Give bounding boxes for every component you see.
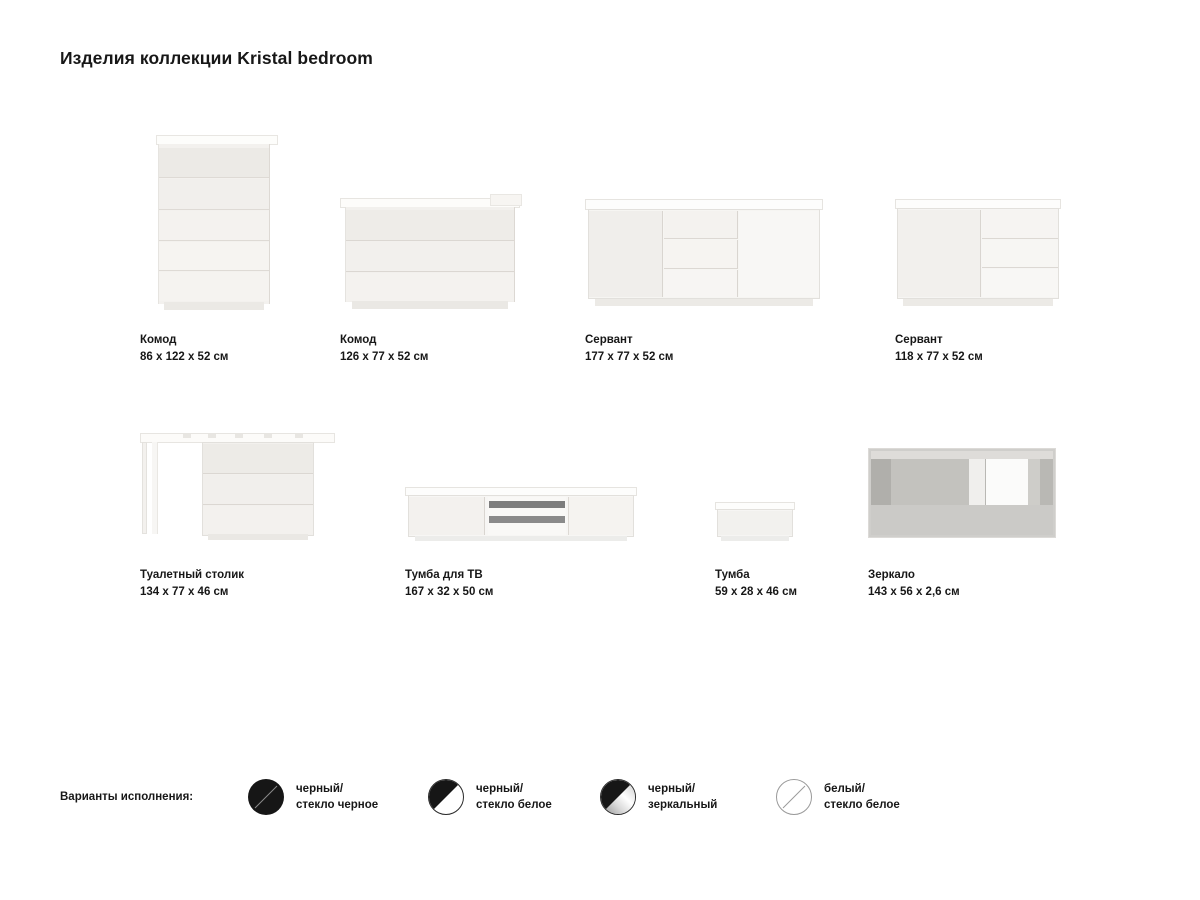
product-dimensions: 177 x 77 x 52 см [585,349,673,366]
drawer-front [346,242,514,272]
product-card-servant-118[interactable]: Сервант 118 x 77 x 52 см [895,190,1095,375]
drawer-front [982,240,1058,268]
chest-plinth [164,302,264,310]
product-card-zerkalo[interactable]: Зеркало 143 x 56 x 2,6 см [868,425,1068,610]
mirror-reflection [871,451,1053,535]
product-label-zerkalo: Зеркало 143 x 56 x 2,6 см [868,567,960,600]
reflection-ceiling [871,451,1053,459]
product-name: Комод [140,332,228,349]
product-image-komod-126 [340,190,525,315]
product-image-zerkalo [868,425,1063,545]
reflection-floor [871,505,1053,535]
legend-text-black-mirror: черный/ зеркальный [648,781,717,814]
product-label-tualetny-stolik: Туалетный столик 134 x 77 x 46 см [140,567,244,600]
product-dimensions: 143 x 56 x 2,6 см [868,584,960,601]
legend-line-2: стекло белое [476,797,552,814]
nightstand-plinth [721,536,789,541]
drawer-front [982,269,1058,297]
product-label-tumba-dlya-tv: Тумба для ТВ 167 x 32 x 50 см [405,567,493,600]
product-label-tumba: Тумба 59 x 28 x 46 см [715,567,797,600]
sideboard-door-right [739,211,819,297]
tv-stand-plinth [415,536,627,541]
drawer-front [203,506,313,534]
shelf-slot [489,516,565,523]
product-dimensions: 59 x 28 x 46 см [715,584,797,601]
finish-options-legend: Варианты исполнения: черный/ стекло черн… [60,779,1140,815]
product-label-servant-177: Сервант 177 x 77 x 52 см [585,332,673,365]
swatch-circle-half-black-mirror [600,779,636,815]
product-name: Сервант [895,332,983,349]
product-image-tualetny-stolik [140,425,340,545]
drawer-front [664,270,738,297]
legend-line-1: белый/ [824,781,900,798]
chest-plinth [352,301,508,309]
legend-item-black-mirror[interactable]: черный/ зеркальный [600,779,717,815]
product-dimensions: 134 x 77 x 46 см [140,584,244,601]
product-image-servant-118 [895,190,1065,315]
product-dimensions: 126 x 77 x 52 см [340,349,428,366]
product-card-komod-126[interactable]: Комод 126 x 77 x 52 см [340,190,540,375]
legend-text-black-black-glass: черный/ стекло черное [296,781,378,814]
product-name: Зеркало [868,567,960,584]
table-top-accent [264,434,272,438]
product-name: Тумба [715,567,797,584]
product-card-servant-177[interactable]: Сервант 177 x 77 x 52 см [585,190,835,375]
legend-item-white-white-glass[interactable]: белый/ стекло белое [776,779,900,815]
product-card-tumba-dlya-tv[interactable]: Тумба для ТВ 167 x 32 x 50 см [405,425,655,610]
table-leg-left-inner [152,442,158,534]
chest-top-overhang [490,194,522,206]
product-label-servant-118: Сервант 118 x 77 x 52 см [895,332,983,365]
sideboard-plinth [903,299,1053,306]
drawer-front [664,211,738,239]
product-card-tualetny-stolik[interactable]: Туалетный столик 134 x 77 x 46 см [140,425,350,610]
swatch-circle-white-outline [776,779,812,815]
product-image-tumba-dlya-tv [405,425,640,545]
product-name: Тумба для ТВ [405,567,493,584]
product-name: Туалетный столик [140,567,244,584]
swatch-circle-black-solid [248,779,284,815]
table-top-accent [208,434,216,438]
product-image-servant-177 [585,190,825,315]
drawer-front [982,210,1058,239]
product-label-komod-126: Комод 126 x 77 x 52 см [340,332,428,365]
product-dimensions: 118 x 77 x 52 см [895,349,983,366]
drawer-front [159,242,269,271]
reflection-wall-back [891,459,969,505]
drawer-front [159,211,269,241]
product-name: Комод [340,332,428,349]
drawer-front [203,475,313,505]
drawer-front [346,210,514,241]
table-top-accent [183,434,191,438]
drawer-front [159,272,269,301]
drawer-front [159,148,269,178]
table-top-accent [295,434,303,438]
sideboard-door-left [589,211,663,297]
product-dimensions: 86 x 122 x 52 см [140,349,228,366]
legend-item-black-black-glass[interactable]: черный/ стекло черное [248,779,378,815]
sideboard-door-left [898,210,981,297]
legend-line-2: зеркальный [648,797,717,814]
drawer-front [409,497,485,535]
drawer-front [664,240,738,269]
legend-item-black-white-glass[interactable]: черный/ стекло белое [428,779,552,815]
legend-line-2: стекло черное [296,797,378,814]
swatch-circle-half-black-white [428,779,464,815]
vanity-plinth [208,534,308,540]
product-label-komod-86: Комод 86 x 122 x 52 см [140,332,228,365]
legend-line-1: черный/ [296,781,378,798]
legend-line-1: черный/ [648,781,717,798]
legend-line-1: черный/ [476,781,552,798]
drawer-front [718,511,792,535]
product-card-komod-86[interactable]: Комод 86 x 122 x 52 см [140,135,330,375]
product-image-tumba [715,425,805,545]
product-dimensions: 167 x 32 x 50 см [405,584,493,601]
legend-text-black-white-glass: черный/ стекло белое [476,781,552,814]
page-title: Изделия коллекции Kristal bedroom [60,48,373,69]
product-image-komod-86 [148,135,278,313]
drawer-front [203,444,313,474]
legend-title: Варианты исполнения: [60,791,193,803]
product-name: Сервант [585,332,673,349]
sideboard-plinth [595,299,813,306]
drawer-front [568,497,633,535]
table-leg-left [142,442,147,534]
legend-line-2: стекло белое [824,797,900,814]
drawer-front [159,179,269,210]
shelf-slot [489,501,565,508]
product-card-tumba[interactable]: Тумба 59 x 28 x 46 см [715,425,855,610]
legend-text-white-white-glass: белый/ стекло белое [824,781,900,814]
drawer-front [346,273,514,301]
table-top-accent [235,434,243,438]
